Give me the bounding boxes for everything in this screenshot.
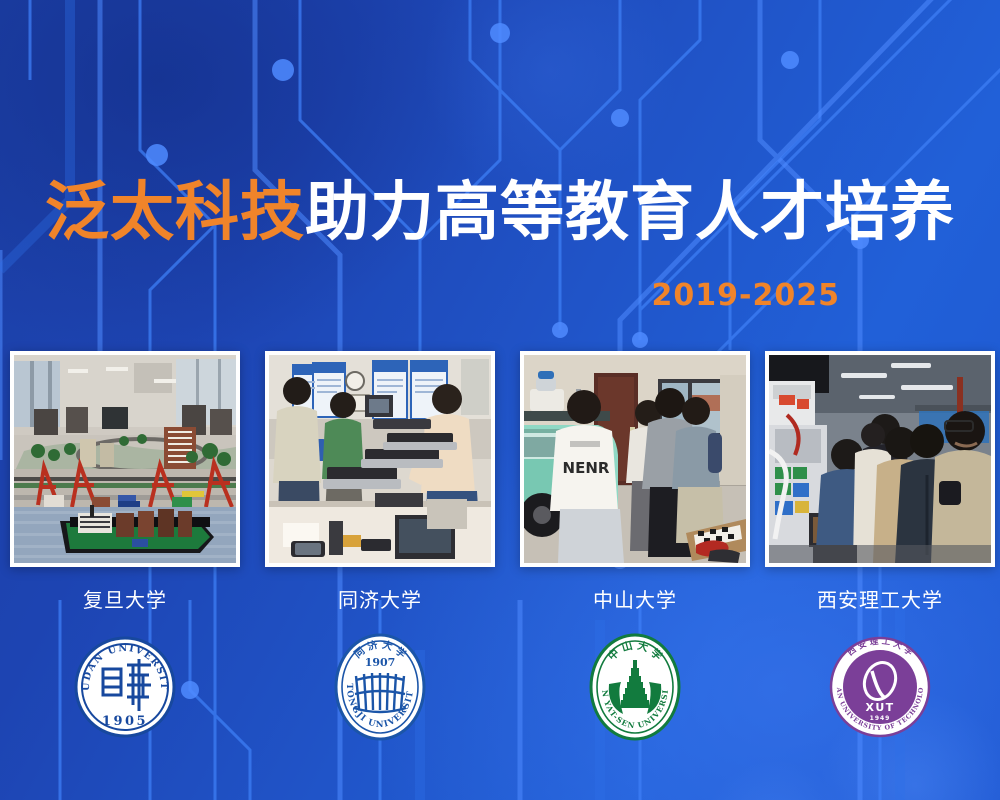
svg-text:1907: 1907 — [365, 656, 396, 669]
title-rest-text: 助力高等教育人才培养 — [305, 176, 955, 250]
poster-subtitle-year-range: 2019-2025 — [652, 278, 840, 313]
sun-yat-sen-university-logo: 中 山 大 学 SUN YAT-SEN UNIVERSITY — [585, 632, 685, 742]
logo-slot-tongji: 同 济 大 学 TONGJI UNIVERSITY 1907 — [265, 632, 495, 742]
logo-slot-sun-yat-sen: 中 山 大 学 SUN YAT-SEN UNIVERSITY — [520, 632, 750, 742]
photo-card-sun-yat-sen: NENR — [520, 351, 750, 567]
photo-gallery-row: NENR — [0, 351, 1000, 567]
svg-text:1905: 1905 — [102, 714, 148, 729]
university-label-fudan: 复旦大学 — [10, 584, 240, 613]
photo-scale-model-port — [14, 355, 236, 563]
photo-autonomous-vehicle-lab: NENR — [524, 355, 746, 563]
svg-text:XUT: XUT — [865, 701, 894, 714]
photo-automation-lab — [269, 355, 491, 563]
svg-text:NENR: NENR — [563, 459, 610, 477]
xian-university-of-technology-logo: 西 安 理 工 大 学 XI'AN UNIVERSITY OF TECHNOLO… — [828, 635, 932, 739]
photo-industrial-equipment-demo — [769, 355, 991, 563]
logo-slot-xian-technology: 西 安 理 工 大 学 XI'AN UNIVERSITY OF TECHNOLO… — [765, 632, 995, 742]
poster-stage: 泛太科技助力高等教育人才培养 2019-2025 — [0, 0, 1000, 800]
university-label-tongji: 同济大学 — [265, 584, 495, 613]
photo-card-xian-technology — [765, 351, 995, 567]
poster-title: 泛太科技助力高等教育人才培养 — [0, 176, 1000, 250]
title-accent-text: 泛太科技 — [45, 176, 305, 250]
fudan-university-logo: FUDAN UNIVERSITY 1905 — [73, 635, 177, 739]
photo-card-tongji — [265, 351, 495, 567]
svg-text:1949: 1949 — [870, 715, 891, 722]
university-label-xian-technology: 西安理工大学 — [765, 584, 995, 613]
logo-slot-fudan: FUDAN UNIVERSITY 1905 — [10, 632, 240, 742]
tongji-university-logo: 同 济 大 学 TONGJI UNIVERSITY 1907 — [330, 632, 430, 742]
photo-card-fudan — [10, 351, 240, 567]
university-label-sun-yat-sen: 中山大学 — [520, 584, 750, 613]
